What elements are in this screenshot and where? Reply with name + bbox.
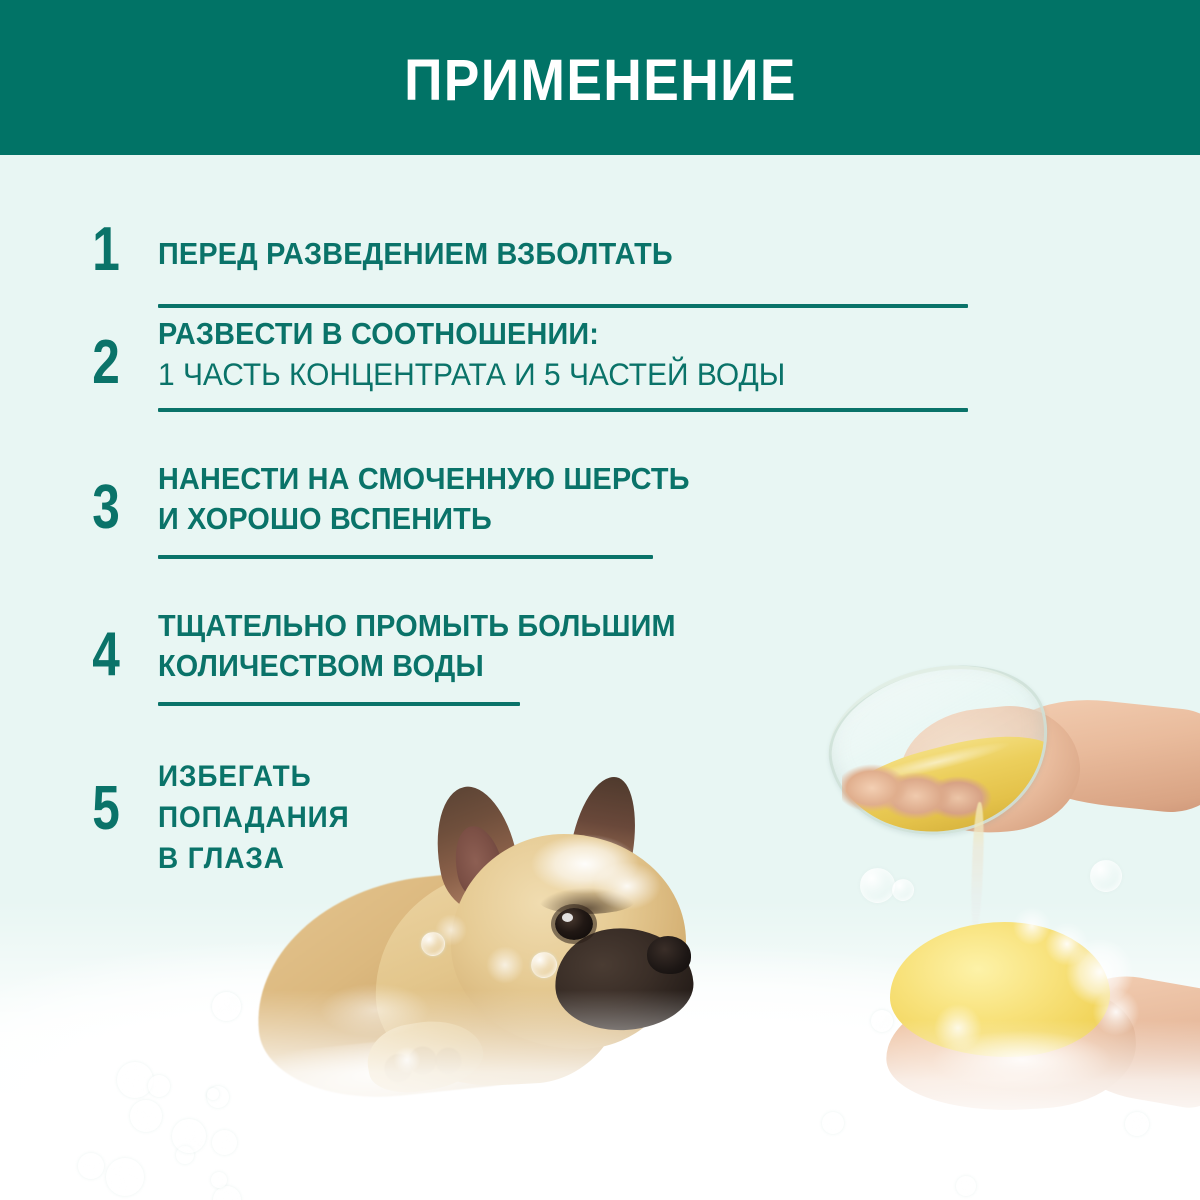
soap-bubble [148,1075,170,1097]
dog-eye [555,908,593,940]
step-number-1: 1 [80,219,131,281]
soap-bubble [421,932,445,956]
step-text-line: ПЕРЕД РАЗВЕДЕНИЕМ ВЗБОЛТАТЬ [158,234,1127,274]
dog-muzzle [552,923,697,1034]
soap-bubble [207,1086,229,1108]
soap-bubble [212,992,241,1021]
header-band: ПРИМЕНЕНИЕ [0,0,1200,155]
step-divider-1 [158,304,968,308]
application-instructions-poster: ПРИМЕНЕНИЕ 1 ПЕРЕД РАЗВЕДЕНИЕМ ВЗБОЛТАТЬ… [0,0,1200,1200]
soap-bubble [1125,1112,1149,1136]
step-text-line: НАНЕСТИ НА СМОЧЕННУЮ ШЕРСТЬ [158,459,1127,499]
photo-layer [0,0,1200,1200]
step-text-line: РАЗВЕСТИ В СООТНОШЕНИИ: [158,314,1127,354]
soap-bubble [871,1010,893,1032]
soap-bubble [117,1062,153,1098]
step-body-3: НАНЕСТИ НА СМОЧЕННУЮ ШЕРСТЬ И ХОРОШО ВСП… [158,459,1200,539]
step-body-5: ИЗБЕГАТЬ ПОПАДАНИЯ В ГЛАЗА [158,756,1200,879]
soap-bubble [211,1172,227,1188]
step-text-line: КОЛИЧЕСТВОМ ВОДЫ [158,646,1127,686]
dog-shoulder [370,864,631,1092]
soap-bubble [78,1153,104,1179]
soap-bubble [956,1176,976,1196]
foam-base [0,900,1200,1200]
soap-bubble [172,1119,206,1153]
soap-bubble [176,1146,194,1164]
step-divider-3 [158,555,653,559]
yellow-sponge [890,922,1110,1057]
soap-bubble [531,952,557,978]
dog-body [245,861,596,1109]
sponge-foam [862,900,1152,1090]
step-body-4: ТЩАТЕЛЬНО ПРОМЫТЬ БОЛЬШИМ КОЛИЧЕСТВОМ ВО… [158,606,1200,686]
step-text-line: В ГЛАЗА [158,838,1127,879]
soap-bubble [892,879,914,901]
step-body-1: ПЕРЕД РАЗВЕДЕНИЕМ ВЗБОЛТАТЬ [158,234,1200,274]
soap-bubble [822,1112,844,1134]
step-text-line: И ХОРОШО ВСПЕНИТЬ [158,499,1127,539]
step-divider-4 [158,702,520,706]
step-number-3: 3 [80,477,131,539]
step-text-line: 1 ЧАСТЬ КОНЦЕНТРАТА И 5 ЧАСТЕЙ ВОДЫ [158,354,1148,394]
step-text-line: ПОПАДАНИЯ [158,797,1127,838]
step-text-line: ИЗБЕГАТЬ [158,756,1127,797]
dog-nose-icon [647,936,691,974]
hands-foam-fade [760,1020,1200,1130]
soap-bubble [106,1158,144,1196]
dog-foam-fade [195,990,775,1140]
step-number-4: 4 [80,624,131,686]
soap-bubble [207,1088,219,1100]
step-text-line: ТЩАТЕЛЬНО ПРОМЫТЬ БОЛЬШИМ [158,606,1127,646]
lower-hand [883,982,1139,1117]
hands-photo [790,650,1190,1120]
page-title: ПРИМЕНЕНИЕ [404,52,797,110]
step-number-2: 2 [80,332,131,394]
lower-arm [1049,965,1200,1114]
step-number-5: 5 [80,778,131,840]
dog-brow [539,888,635,914]
step-divider-2 [158,408,968,412]
soap-bubble [130,1100,162,1132]
soap-bubble [212,1130,237,1155]
soap-bubble [213,1186,241,1200]
step-body-2: РАЗВЕСТИ В СООТНОШЕНИИ: 1 ЧАСТЬ КОНЦЕНТР… [158,314,1200,394]
dog-paw [362,1012,488,1099]
